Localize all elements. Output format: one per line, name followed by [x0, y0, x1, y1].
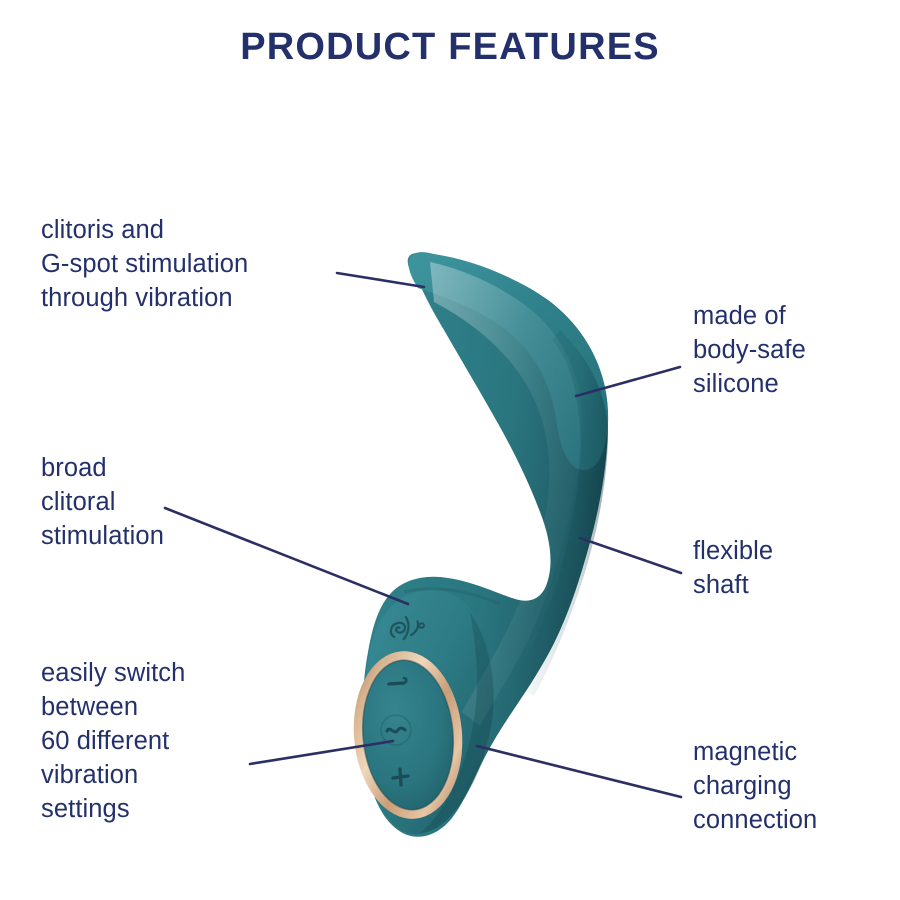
- leader-lines: [0, 0, 900, 900]
- leader-line-broad-clitoral: [165, 508, 408, 604]
- product-features-diagram: PRODUCT FEATURES: [0, 0, 900, 900]
- leader-line-clitoris-gspot: [337, 273, 424, 287]
- leader-line-magnetic: [477, 746, 681, 797]
- leader-line-easily-switch: [250, 741, 393, 764]
- leader-line-body-safe: [576, 367, 680, 396]
- leader-line-flexible-shaft: [580, 538, 681, 573]
